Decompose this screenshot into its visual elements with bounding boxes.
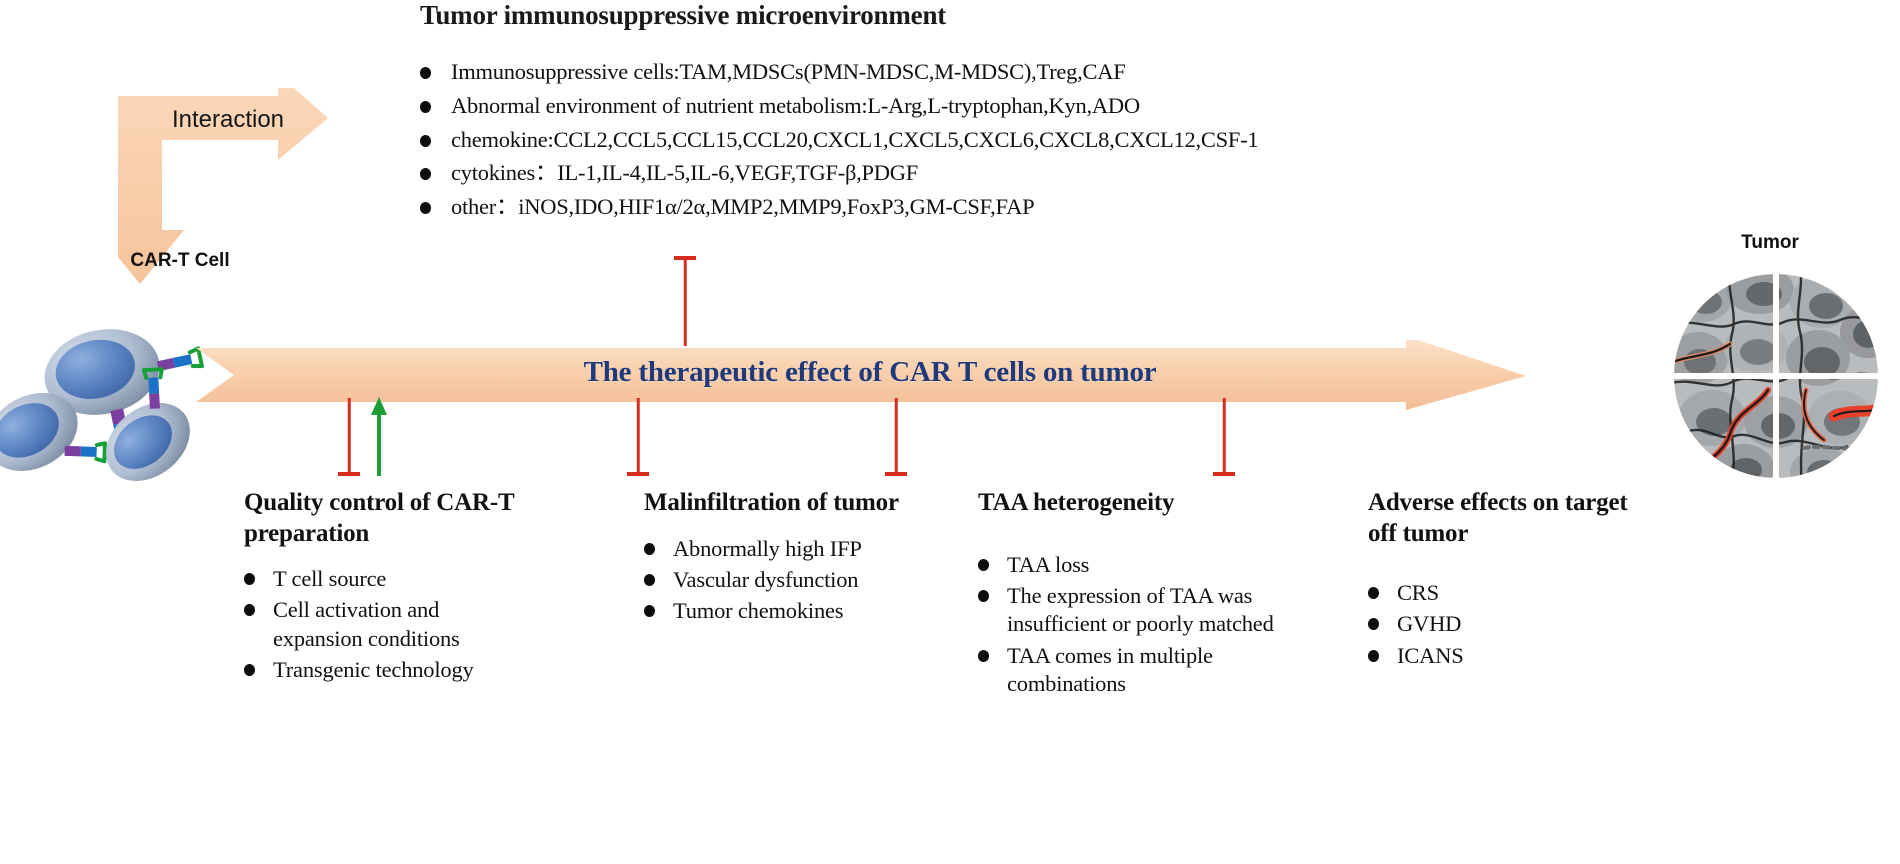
bullet-icon — [244, 573, 255, 585]
list-item-label: Immunosuppressive cells:TAM,MDSCs(PMN-MD… — [451, 58, 1126, 87]
tumor-tissue-image — [1672, 272, 1880, 480]
list-item-label: T cell source — [273, 565, 386, 593]
therapeutic-effect-arrow-label: The therapeutic effect of CAR T cells on… — [430, 356, 1310, 389]
list-item: Abnormally high IFP — [644, 535, 904, 563]
list-item: CRS — [1368, 579, 1628, 607]
section-taa-heterogeneity: TAA heterogeneity TAA loss The expressio… — [978, 488, 1278, 701]
list-item-label: Vascular dysfunction — [673, 566, 858, 594]
bullet-icon — [644, 605, 655, 617]
section-heading: TAA heterogeneity — [978, 488, 1278, 519]
interaction-label: Interaction — [143, 106, 313, 134]
list-item: Tumor chemokines — [644, 597, 904, 625]
list-item: TAA loss — [978, 551, 1278, 579]
list-item-label: The expression of TAA was insufficient o… — [1007, 582, 1278, 639]
inhibition-mark-taa-heterogeneity — [884, 398, 908, 476]
bullet-icon — [978, 590, 989, 602]
bullet-icon — [1368, 618, 1379, 630]
bullet-icon — [644, 543, 655, 555]
bullet-icon — [1368, 587, 1379, 599]
list-item-label: TAA loss — [1007, 551, 1089, 579]
bullet-icon — [420, 135, 431, 147]
bullet-icon — [244, 604, 255, 616]
tumor-label: Tumor — [1690, 232, 1850, 254]
section-quality-control: Quality control of CAR-T preparation T c… — [244, 488, 524, 687]
list-item: Abnormal environment of nutrient metabol… — [420, 92, 1540, 121]
section-bullet-list: CRS GVHD ICANS — [1368, 579, 1628, 670]
list-item-label: TAA comes in multiple combinations — [1007, 642, 1278, 699]
list-item-label: ICANS — [1397, 642, 1464, 670]
list-item: GVHD — [1368, 610, 1628, 638]
section-heading: Malinfiltration of tumor — [644, 488, 904, 519]
list-item: Transgenic technology — [244, 656, 524, 684]
car-t-cell-label: CAR-T Cell — [80, 250, 280, 272]
list-item-label: Transgenic technology — [273, 656, 474, 684]
list-item: cytokines：IL-1,IL-4,IL-5,IL-6,VEGF,TGF-β… — [420, 159, 1540, 188]
list-item-label: cytokines：IL-1,IL-4,IL-5,IL-6,VEGF,TGF-β… — [451, 159, 918, 188]
list-item-label: GVHD — [1397, 610, 1461, 638]
tumor-microenvironment-title: Tumor immunosuppressive microenvironment — [420, 0, 1180, 31]
list-item-label: chemokine:CCL2,CCL5,CCL15,CCL20,CXCL1,CX… — [451, 126, 1258, 155]
bullet-icon — [420, 101, 431, 113]
inhibition-mark-malinfiltration — [626, 398, 650, 476]
bullet-icon — [644, 574, 655, 586]
bullet-icon — [420, 168, 431, 180]
bullet-icon — [978, 559, 989, 571]
list-item: chemokine:CCL2,CCL5,CCL15,CCL20,CXCL1,CX… — [420, 126, 1540, 155]
bullet-icon — [420, 202, 431, 214]
section-bullet-list: TAA loss The expression of TAA was insuf… — [978, 551, 1278, 699]
list-item: Immunosuppressive cells:TAM,MDSCs(PMN-MD… — [420, 58, 1540, 87]
list-item: T cell source — [244, 565, 524, 593]
activation-arrow-quality-control — [368, 396, 390, 476]
inhibition-mark-adverse-effects — [1212, 398, 1236, 476]
inhibition-mark-quality-control — [337, 398, 361, 476]
list-item-label: CRS — [1397, 579, 1439, 607]
section-heading: Adverse effects on target off tumor — [1368, 488, 1628, 549]
list-item-label: Cell activation and expansion conditions — [273, 596, 524, 653]
section-adverse-effects: Adverse effects on target off tumor CRS … — [1368, 488, 1628, 673]
list-item: ICANS — [1368, 642, 1628, 670]
list-item: Vascular dysfunction — [644, 566, 904, 594]
list-item: TAA comes in multiple combinations — [978, 642, 1278, 699]
bullet-icon — [1368, 650, 1379, 662]
section-heading: Quality control of CAR-T preparation — [244, 488, 524, 549]
list-item: Cell activation and expansion conditions — [244, 596, 524, 653]
list-item: other：iNOS,IDO,HIF1α/2α,MMP2,MMP9,FoxP3,… — [420, 193, 1540, 222]
list-item-label: other：iNOS,IDO,HIF1α/2α,MMP2,MMP9,FoxP3,… — [451, 193, 1034, 222]
list-item-label: Abnormally high IFP — [673, 535, 862, 563]
section-bullet-list: T cell source Cell activation and expans… — [244, 565, 524, 684]
section-malinfiltration: Malinfiltration of tumor Abnormally high… — [644, 488, 904, 629]
list-item-label: Tumor chemokines — [673, 597, 843, 625]
bullet-icon — [244, 664, 255, 676]
list-item-label: Abnormal environment of nutrient metabol… — [451, 92, 1140, 121]
tumor-microenvironment-list: Immunosuppressive cells:TAM,MDSCs(PMN-MD… — [420, 58, 1540, 227]
section-bullet-list: Abnormally high IFP Vascular dysfunction… — [644, 535, 904, 626]
bullet-icon — [420, 67, 431, 79]
bullet-icon — [978, 650, 989, 662]
list-item: The expression of TAA was insufficient o… — [978, 582, 1278, 639]
inhibition-mark-microenvironment — [673, 256, 697, 346]
